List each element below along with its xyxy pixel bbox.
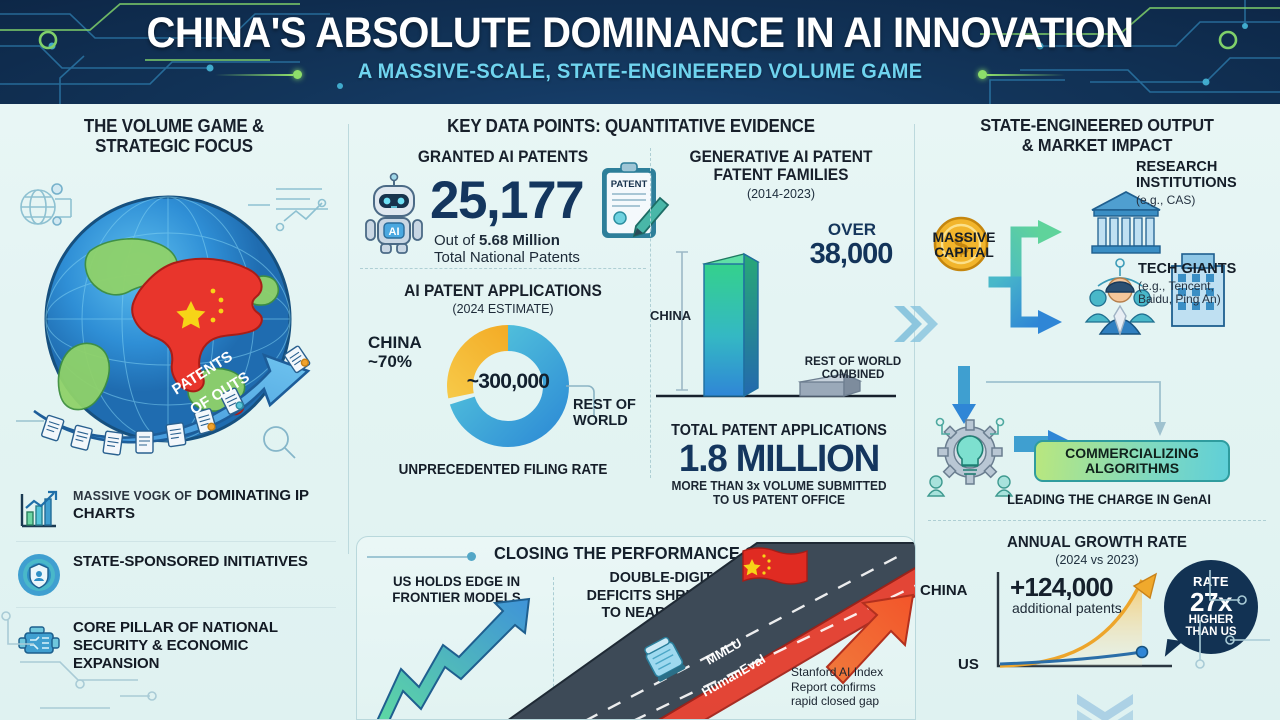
divider-commercializing-growth — [928, 520, 1266, 521]
growth-us-endpoint — [1137, 647, 1148, 658]
bar-label-rest-of-world: REST OF WORLD COMBINED — [798, 356, 908, 381]
donut-label-rest-of-world: REST OF WORLD — [573, 398, 636, 429]
performance-gap-panel: CLOSING THE PERFORMANCE GAP US HOLDS EDG… — [356, 536, 916, 720]
svg-text:AI: AI — [389, 226, 400, 238]
growth-label-us: US — [958, 656, 979, 673]
total-note: MORE THAN 3x VOLUME SUBMITTED TO US PATE… — [651, 479, 908, 508]
page-title: CHINA'S ABSOLUTE DOMINANCE IN AI INNOVAT… — [45, 9, 1235, 58]
bullet-state-sponsored-initiatives: STATE-SPONSORED INITIATIVES — [16, 541, 336, 607]
applications-footer: UNPRECEDENTED FILING RATE — [368, 462, 638, 478]
page-subtitle: A MASSIVE-SCALE, STATE-ENGINEERED VOLUME… — [358, 60, 922, 84]
generative-title: GENERATIVE AI PATENT FATENT FAMILIES — [656, 148, 906, 185]
donut-center-value: ~300,000 — [444, 370, 572, 394]
growth-small-value: additional patents — [1012, 600, 1122, 616]
subtitle-dot-left — [293, 70, 302, 79]
total-value: 1.8 MILLION — [648, 440, 910, 479]
research-institutions-label: RESEARCH INSTITUTIONS (e.g., CAS) — [1136, 160, 1280, 207]
applications-subtitle: (2024 ESTIMATE) — [358, 302, 648, 316]
bullet-large-label: STATE-SPONSORED INITIATIVES — [73, 553, 308, 570]
us-edge-arrow-icon — [377, 599, 529, 720]
generative-over-label: OVER — [796, 220, 908, 240]
granted-sub-prefix: Out of — [434, 232, 479, 249]
chart-deco-icon — [248, 189, 328, 231]
granted-patents-block: GRANTED AI PATENTS AI 25,177 — [358, 148, 648, 167]
ai-robot-icon: AI — [358, 172, 430, 256]
page-subtitle-wrap: A MASSIVE-SCALE, STATE-ENGINEERED VOLUME… — [0, 60, 1280, 84]
globe-deco-icon — [21, 184, 71, 225]
total-applications-block: TOTAL PATENT APPLICATIONS 1.8 MILLION MO… — [644, 422, 914, 507]
infographic-page: CHINA'S ABSOLUTE DOMINANCE IN AI INNOVAT… — [0, 0, 1280, 720]
bullet-dominating-ip-charts: MASSIVE VOGK OF DOMINATING IP CHARTS — [16, 476, 336, 541]
granted-sub-strong: 5.68 Million — [479, 232, 560, 249]
granted-value: 25,177 — [430, 170, 583, 231]
bar-label-china: CHINA — [650, 308, 691, 323]
subtitle-line-left — [215, 74, 293, 76]
granted-sub-line2: Total National Patents — [434, 249, 580, 266]
china-flag-icon — [743, 548, 807, 584]
right-section-title: STATE-ENGINEERED OUTPUT & MARKET IMPACT — [925, 116, 1269, 156]
bullet-text: STATE-SPONSORED INITIATIVES — [73, 552, 308, 571]
bullet-text: MASSIVE VOGK OF DOMINATING IP CHARTS — [73, 486, 336, 523]
massive-capital-label: MASSIVE CAPITAL — [918, 230, 1010, 261]
clipboard-label: PATENT — [611, 179, 648, 190]
magnifier-icon — [264, 427, 295, 458]
growth-label-china: CHINA — [920, 582, 968, 599]
globe-patents-illustration: PATENTS OF OUTS — [8, 159, 340, 459]
header-banner: CHINA'S ABSOLUTE DOMINANCE IN AI INNOVAT… — [0, 0, 1280, 104]
ai-patent-applications-chart: AI PATENT APPLICATIONS (2024 ESTIMATE) — [358, 282, 648, 316]
subtitle-line-right — [987, 74, 1065, 76]
commercializing-footer: LEADING THE CHARGE IN GenAI — [952, 492, 1266, 507]
growth-title: ANNUAL GROWTH RATE — [925, 534, 1269, 552]
tech-giants-label: TECH GIANTS (e.g., Tencent, Baidu, Ping … — [1138, 262, 1280, 307]
bar-chart-growth-icon — [16, 486, 62, 532]
innovation-gear-bulb-icon — [928, 419, 1012, 497]
shield-badge-icon — [16, 552, 62, 598]
bar-china — [704, 254, 758, 396]
subtitle-dot-right — [978, 70, 987, 79]
generative-value: 38,000 — [788, 238, 914, 271]
generative-ai-chart: GENERATIVE AI PATENT FATENT FAMILIES (20… — [648, 148, 914, 201]
bullet-small-label: MASSIVE VOGK OF — [73, 489, 192, 503]
commercializing-algorithms-badge: COMMERCIALIZING ALGORITHMS — [1034, 440, 1230, 482]
down-chevrons-icon — [1077, 694, 1133, 720]
bottom-left-circuit-icon — [0, 600, 200, 720]
center-section-title: KEY DATA POINTS: QUANTITATIVE EVIDENCE — [365, 116, 897, 136]
right-chevrons-icon — [892, 300, 938, 352]
applications-title: AI PATENT APPLICATIONS — [367, 282, 640, 301]
granted-subtext: Out of 5.68 Million Total National Paten… — [434, 232, 580, 267]
gap-source-note: Stanford AI Index Report confirms rapid … — [791, 665, 913, 709]
growth-big-value: +124,000 — [1010, 572, 1113, 603]
donut-label-china: CHINA ~70% — [368, 334, 422, 371]
generative-subtitle: (2014-2023) — [648, 187, 914, 201]
bottom-right-circuit-icon — [1180, 560, 1280, 720]
left-section-title: THE VOLUME GAME & STRATEGIC FOCUS — [10, 116, 337, 157]
divider-granted-applications — [360, 268, 646, 269]
